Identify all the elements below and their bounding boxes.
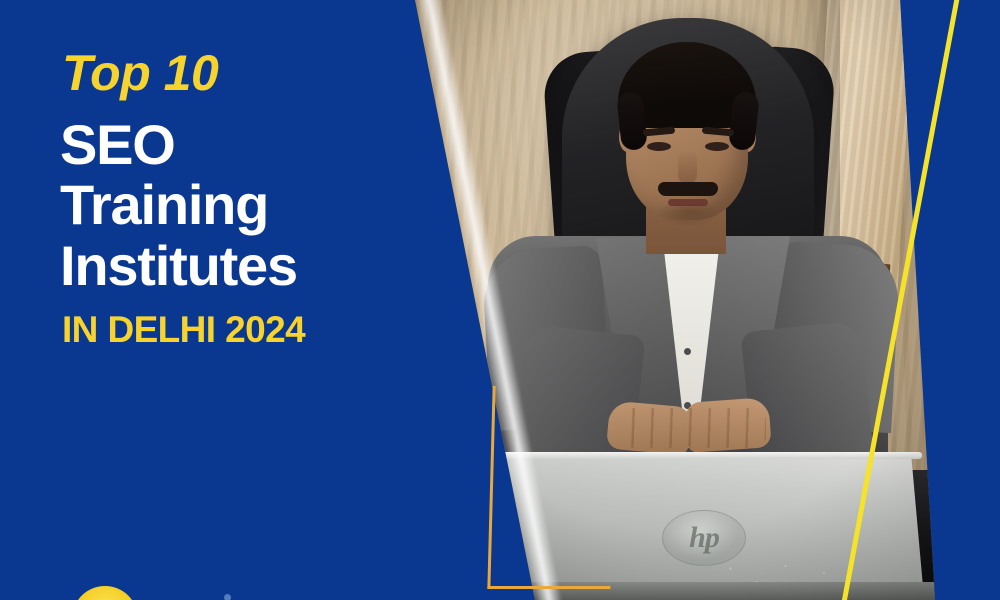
mustache [658,182,718,196]
brand-logo-mark [72,586,138,600]
gold-corner-bracket [487,386,615,589]
shirt-button [684,348,691,355]
photo-content: hp [400,0,960,600]
eye-right [705,142,729,151]
subline-text: IN DELHI 2024 [62,310,440,351]
promo-banner: hp Top 10 SEO Training Institutes IN DEL… [0,0,1000,600]
hp-logo-text: hp [689,523,719,553]
chin-shadow [658,205,720,227]
logo-accent-dot [224,594,231,600]
fingers [616,408,766,448]
headline-block: Top 10 SEO Training Institutes IN DELHI … [60,48,440,351]
headline-line-3: Institutes [60,236,440,296]
eyebrow-text: Top 10 [62,48,440,99]
eye-left [647,142,671,151]
headline-line-1: SEO [60,115,440,175]
nose [678,150,697,184]
headline-line-2: Training [60,175,440,235]
